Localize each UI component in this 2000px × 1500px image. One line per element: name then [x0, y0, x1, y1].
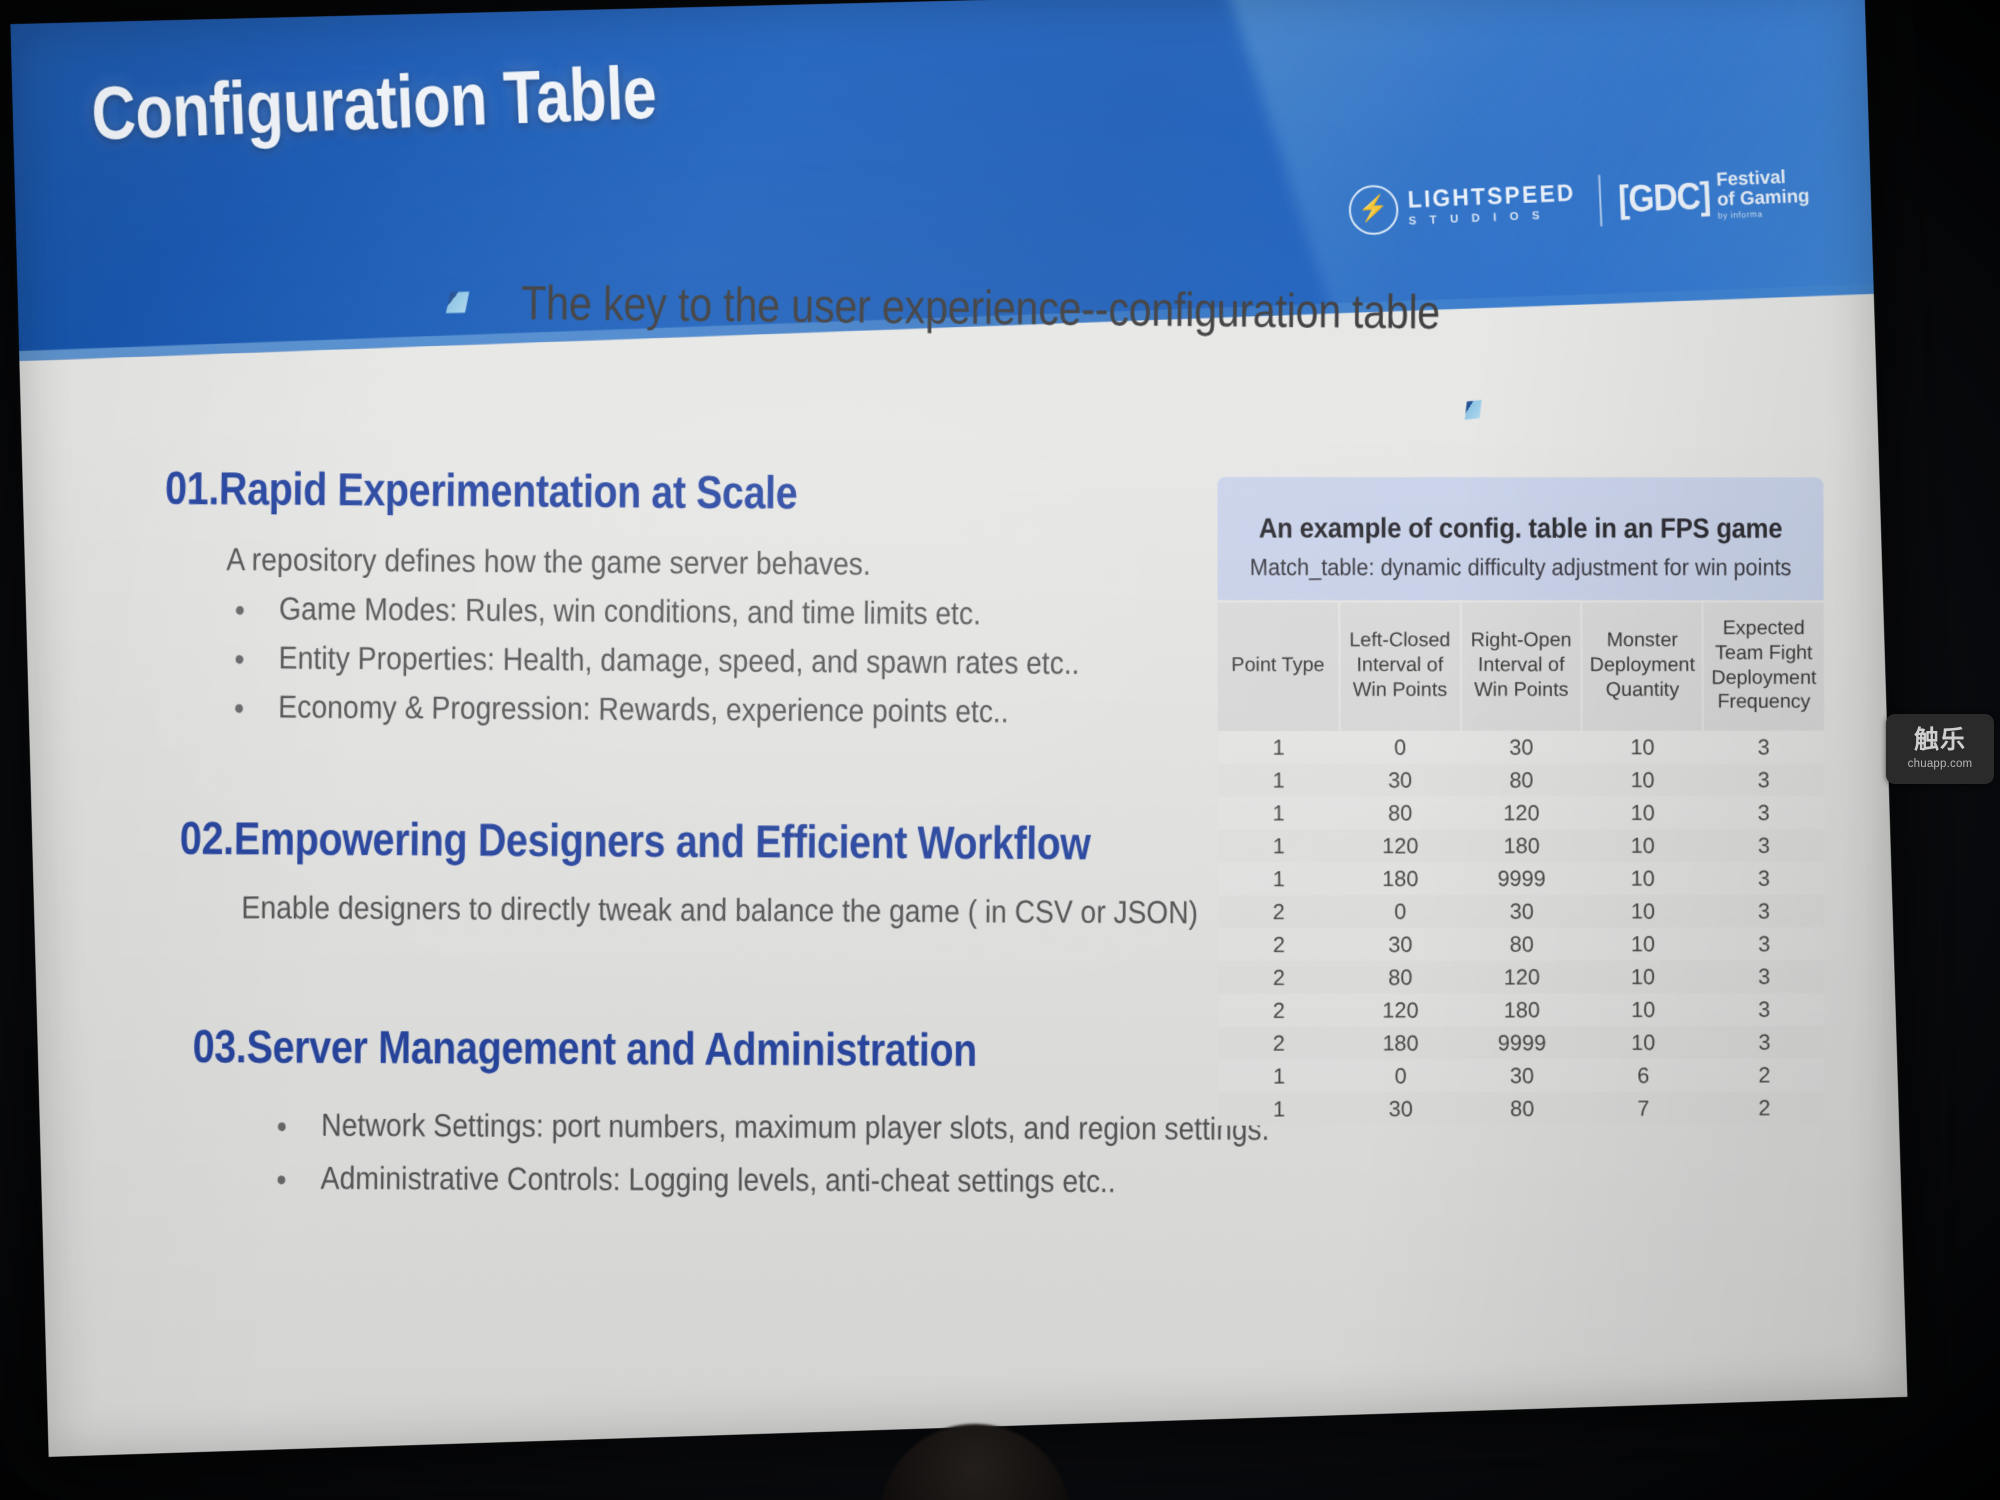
cell-c1: 30	[1340, 1092, 1462, 1125]
cell-c1: 120	[1339, 829, 1460, 862]
list-item-label: Entity Properties: Health, damage, speed…	[279, 641, 1080, 682]
gdc-festival-logo: [GDC] Festival of Gaming by informa	[1618, 167, 1811, 225]
panel-caption: An example of config. table in an FPS ga…	[1217, 477, 1823, 600]
list-item-label: Economy & Progression: Rewards, experien…	[278, 690, 1009, 730]
cell-c2: 30	[1461, 731, 1582, 764]
section-01: 01.Rapid Experimentation at Scale A repo…	[163, 462, 1319, 730]
table-row: 1030103	[1218, 731, 1824, 764]
cell-c2: 30	[1461, 1059, 1582, 1092]
table-row: 1120180103	[1218, 829, 1824, 863]
cell-c4: 3	[1703, 796, 1824, 829]
cell-c1: 80	[1340, 961, 1462, 994]
section-02-lead: Enable designers to directly tweak and b…	[241, 891, 1312, 933]
column-header-1: Left-Closed Interval of Win Points	[1339, 601, 1461, 731]
list-item: Economy & Progression: Rewards, experien…	[225, 690, 1296, 733]
section-03-body: Network Settings: port numbers, maximum …	[268, 1108, 1348, 1199]
table-row: 13080103	[1218, 764, 1824, 797]
cell-c3: 10	[1582, 928, 1703, 961]
cell-c2: 180	[1461, 829, 1582, 862]
gdc-wordmark: Festival of Gaming by informa	[1716, 167, 1811, 221]
gdc-line-2: of Gaming	[1717, 186, 1810, 210]
bullet-dot-icon	[277, 1175, 285, 1184]
bolt-glyph: ⚡	[1358, 196, 1390, 222]
panel-caption-subtitle: Match_table: dynamic difficulty adjustme…	[1239, 554, 1802, 582]
list-item-label: Network Settings: port numbers, maximum …	[321, 1108, 1270, 1147]
chuapp-watermark: 触乐 chuapp.com	[1886, 714, 1994, 784]
cell-c2: 9999	[1461, 862, 1582, 895]
table-row: 180120103	[1218, 796, 1824, 829]
cell-c0: 2	[1218, 961, 1340, 994]
cell-c1: 180	[1340, 862, 1461, 895]
section-02-heading: 02.Empowering Designers and Efficient Wo…	[180, 812, 1295, 872]
table-row: 1308072	[1218, 1091, 1825, 1125]
cell-c4: 3	[1703, 731, 1824, 764]
cell-c3: 10	[1582, 731, 1703, 764]
cell-c2: 30	[1461, 895, 1582, 928]
section-03-bullet-list: Network Settings: port numbers, maximum …	[268, 1108, 1348, 1199]
cell-c0: 1	[1218, 764, 1340, 797]
cell-c4: 3	[1703, 862, 1824, 895]
cell-c0: 2	[1218, 895, 1340, 928]
cell-c2: 80	[1461, 928, 1582, 961]
cell-c4: 3	[1703, 829, 1824, 862]
bullet-dot-icon	[235, 703, 243, 712]
column-header-2: Right-Open Interval of Win Points	[1460, 601, 1581, 730]
list-item: Network Settings: port numbers, maximum …	[268, 1108, 1326, 1149]
cell-c2: 80	[1461, 764, 1582, 797]
table-row: 2120180103	[1218, 993, 1825, 1027]
section-01-lead: A repository defines how the game server…	[226, 543, 1297, 587]
watermark-url-text: chuapp.com	[1908, 758, 1973, 770]
cell-c3: 10	[1583, 993, 1704, 1026]
table-row: 280120103	[1218, 960, 1825, 994]
decorative-diamond-icon-2	[1465, 400, 1482, 420]
section-01-body: A repository defines how the game server…	[225, 543, 1319, 730]
cell-c3: 10	[1582, 960, 1703, 993]
config-table-panel: An example of config. table in an FPS ga…	[1217, 477, 1825, 1126]
cell-c0: 1	[1218, 830, 1340, 863]
cell-c3: 10	[1582, 829, 1703, 862]
cell-c2: 9999	[1461, 1026, 1582, 1059]
section-03-heading: 03.Server Management and Administration	[192, 1020, 1307, 1078]
cell-c1: 30	[1340, 928, 1462, 961]
cell-c2: 180	[1461, 994, 1582, 1027]
cell-c1: 0	[1339, 731, 1460, 764]
cell-c3: 7	[1583, 1092, 1704, 1125]
cell-c0: 1	[1218, 1093, 1340, 1126]
table-row: 2030103	[1218, 895, 1825, 929]
section-02-body: Enable designers to directly tweak and b…	[241, 891, 1334, 930]
column-header-4: Expected Team Fight Deployment Frequency	[1703, 601, 1824, 730]
section-01-bullet-list: Game Modes: Rules, win conditions, and t…	[225, 592, 1318, 730]
cell-c1: 0	[1340, 1060, 1462, 1093]
cell-c4: 3	[1704, 927, 1825, 960]
cell-c0: 2	[1218, 994, 1340, 1027]
audience-head-silhouette	[880, 1424, 1070, 1500]
cell-c0: 2	[1218, 1027, 1340, 1060]
cell-c0: 1	[1218, 862, 1340, 895]
table-row: 21809999103	[1218, 1026, 1825, 1060]
table-row: 23080103	[1218, 927, 1825, 961]
bullet-dot-icon	[278, 1122, 286, 1131]
cell-c0: 2	[1218, 928, 1340, 961]
cell-c4: 3	[1704, 960, 1825, 993]
bullet-dot-icon	[236, 605, 244, 614]
config-table: Point TypeLeft-Closed Interval of Win Po…	[1218, 600, 1825, 1125]
gdc-mark: [GDC]	[1618, 177, 1711, 219]
list-item-label: Administrative Controls: Logging levels,…	[321, 1161, 1116, 1199]
decorative-diamond-secondary	[1464, 384, 1482, 419]
cell-c0: 1	[1218, 797, 1340, 830]
cell-c1: 30	[1339, 764, 1460, 797]
column-header-3: Monster Deployment Quantity	[1582, 601, 1703, 730]
config-table-head: Point TypeLeft-Closed Interval of Win Po…	[1218, 601, 1824, 731]
table-row: 11809999103	[1218, 862, 1824, 896]
lightspeed-studios-logo: ⚡ LIGHTSPEED S T U D I O S	[1348, 176, 1584, 235]
table-header-row: Point TypeLeft-Closed Interval of Win Po…	[1218, 601, 1824, 731]
panel-caption-title: An example of config. table in an FPS ga…	[1239, 512, 1802, 546]
cell-c1: 120	[1340, 994, 1462, 1027]
cell-c4: 2	[1704, 1091, 1825, 1124]
list-item-label: Game Modes: Rules, win conditions, and t…	[279, 592, 981, 632]
cell-c4: 2	[1704, 1059, 1825, 1092]
cell-c2: 120	[1461, 797, 1582, 830]
cell-c3: 6	[1583, 1059, 1704, 1092]
column-header-0: Point Type	[1218, 601, 1340, 731]
cell-c1: 0	[1340, 895, 1461, 928]
list-item: Administrative Controls: Logging levels,…	[268, 1161, 1326, 1202]
cell-c3: 10	[1582, 764, 1703, 797]
table-row: 103062	[1218, 1059, 1825, 1093]
cell-c3: 10	[1582, 895, 1703, 928]
lightning-bolt-in-circle-icon: ⚡	[1348, 184, 1400, 236]
cell-c1: 80	[1339, 797, 1460, 830]
cell-c2: 80	[1461, 1092, 1582, 1125]
watermark-cn-text: 触乐	[1914, 728, 1966, 753]
list-item: Entity Properties: Health, damage, speed…	[226, 641, 1297, 684]
cell-c2: 120	[1461, 961, 1582, 994]
config-table-body: 1030103130801031801201031120180103118099…	[1218, 731, 1825, 1126]
brand-divider	[1599, 175, 1603, 227]
cell-c0: 1	[1218, 731, 1340, 764]
section-03: 03.Server Management and Administration …	[191, 1020, 1347, 1198]
cell-c4: 3	[1703, 895, 1824, 928]
bullet-dot-icon	[236, 654, 244, 663]
cell-c0: 1	[1218, 1060, 1340, 1093]
cell-c1: 180	[1340, 1027, 1462, 1060]
list-item: Game Modes: Rules, win conditions, and t…	[226, 592, 1297, 636]
lightspeed-name: LIGHTSPEED	[1408, 182, 1577, 213]
section-02: 02.Empowering Designers and Efficient Wo…	[179, 812, 1335, 929]
cell-c3: 10	[1582, 862, 1703, 895]
cell-c4: 3	[1704, 1026, 1825, 1059]
lightspeed-wordmark: LIGHTSPEED S T U D I O S	[1408, 182, 1585, 228]
projected-slide-wrapper: Configuration Table ⚡ LIGHTSPEED S T U D…	[10, 0, 1907, 1457]
cell-c3: 10	[1583, 1026, 1704, 1059]
cell-c4: 3	[1704, 993, 1825, 1026]
presentation-slide: Configuration Table ⚡ LIGHTSPEED S T U D…	[10, 0, 1907, 1457]
slide-left-column: 01.Rapid Experimentation at Scale A repo…	[10, 0, 1206, 1457]
section-01-heading: 01.Rapid Experimentation at Scale	[165, 462, 1279, 523]
photo-stage: Configuration Table ⚡ LIGHTSPEED S T U D…	[0, 0, 2000, 1500]
cell-c3: 10	[1582, 796, 1703, 829]
cell-c4: 3	[1703, 764, 1824, 797]
